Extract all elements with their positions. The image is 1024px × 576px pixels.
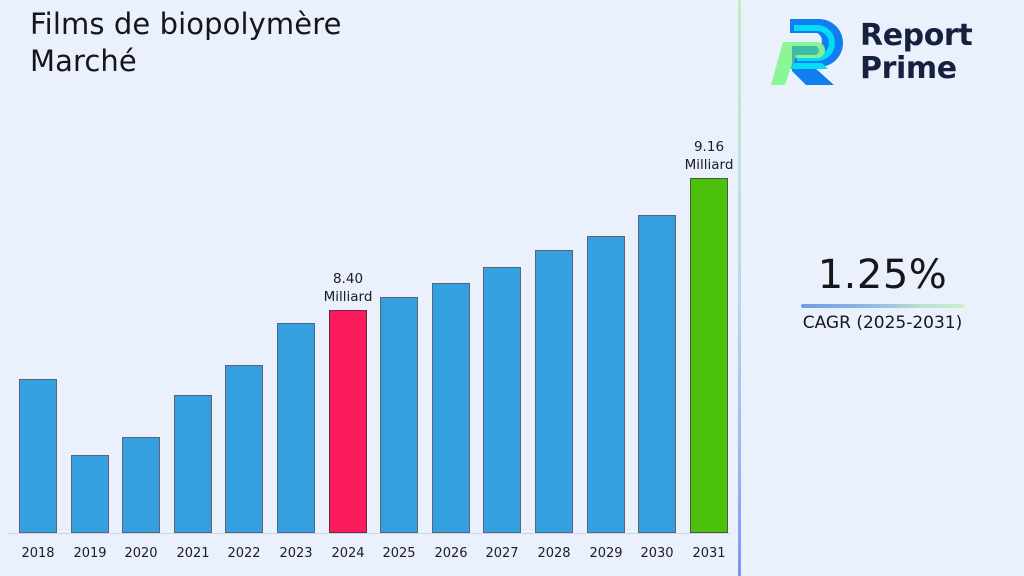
bar-2018[interactable] (19, 379, 57, 533)
x-tick-2025: 2025 (373, 546, 425, 561)
x-tick-2026: 2026 (425, 546, 477, 561)
x-tick-2019: 2019 (64, 546, 116, 561)
screenshot-root: Films de biopolymère Marché 8.40 Milliar… (0, 0, 1024, 576)
bar-2025[interactable] (380, 297, 418, 533)
bar-2019[interactable] (71, 455, 109, 533)
bar-2029[interactable] (587, 236, 625, 533)
x-tick-2023: 2023 (270, 546, 322, 561)
x-tick-2018: 2018 (12, 546, 64, 561)
x-tick-2024: 2024 (322, 546, 374, 561)
bar-2028[interactable] (535, 250, 573, 533)
bar-2030[interactable] (638, 215, 676, 533)
bar-2031[interactable] (690, 178, 728, 533)
page-title: Films de biopolymère Marché (30, 6, 690, 80)
bar-2023[interactable] (277, 323, 315, 533)
cagr-value: 1.25% (741, 252, 1024, 298)
x-tick-2022: 2022 (218, 546, 270, 561)
chart-panel: Films de biopolymère Marché 8.40 Milliar… (0, 0, 738, 576)
report-prime-logo: Report Prime (770, 12, 1010, 92)
bar-2020[interactable] (122, 437, 160, 533)
x-tick-2030: 2030 (631, 546, 683, 561)
summary-panel: Report Prime 1.25% CAGR (2025-2031) (741, 0, 1024, 576)
x-tick-2029: 2029 (580, 546, 632, 561)
bar-2027[interactable] (483, 267, 521, 533)
chart-plot-area: 8.40 Milliard9.16 Milliard (0, 120, 738, 533)
bar-chart: 8.40 Milliard9.16 Milliard 2018201920202… (0, 120, 738, 576)
x-tick-2031: 2031 (683, 546, 735, 561)
report-prime-mark-icon (770, 15, 850, 89)
report-prime-wordmark: Report Prime (860, 19, 972, 85)
x-tick-2028: 2028 (528, 546, 580, 561)
x-tick-2020: 2020 (115, 546, 167, 561)
cagr-label: CAGR (2025-2031) (741, 312, 1024, 334)
bar-2021[interactable] (174, 395, 212, 533)
x-tick-2027: 2027 (476, 546, 528, 561)
bar-2024[interactable] (329, 310, 367, 533)
cagr-divider-rule (801, 304, 964, 308)
x-tick-2021: 2021 (167, 546, 219, 561)
cagr-block: 1.25% CAGR (2025-2031) (741, 252, 1024, 334)
x-axis-tick-labels: 2018201920202021202220232024202520262027… (0, 533, 738, 576)
bar-2022[interactable] (225, 365, 263, 533)
bar-2026[interactable] (432, 283, 470, 533)
